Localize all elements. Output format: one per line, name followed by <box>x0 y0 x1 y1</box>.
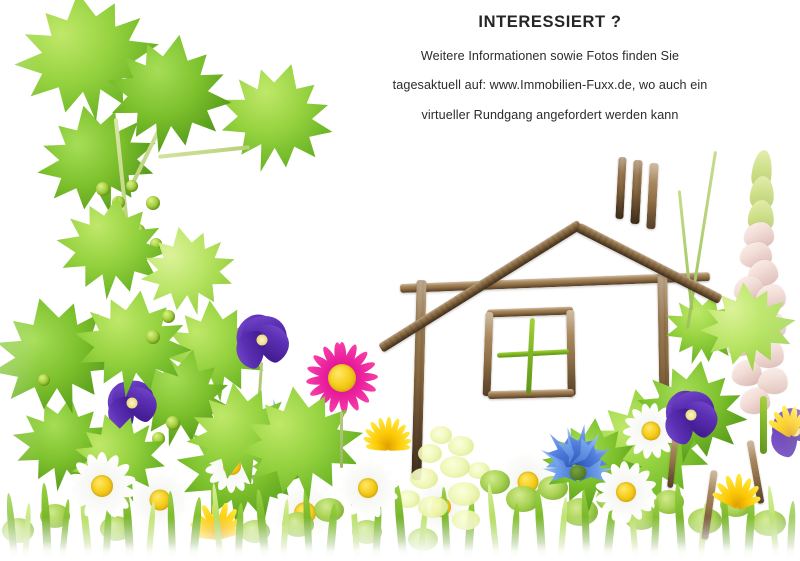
daisy-flower <box>58 442 146 530</box>
advertisement-image: INTERESSIERT ? Weitere Informationen sow… <box>0 0 800 561</box>
dandelion-flower <box>756 404 800 458</box>
daisy-flower <box>586 452 666 532</box>
columbine-flower-right <box>652 382 730 446</box>
info-line-3: virtueller Rundgang angefordert werden k… <box>330 109 770 122</box>
info-line-2-with-website: tagesaktuell auf: www.Immobilien-Fuxx.de… <box>330 79 770 92</box>
lupine-leaf-stem <box>678 190 694 310</box>
info-line-1: Weitere Informationen sowie Fotos finden… <box>330 50 770 63</box>
dandelion-flower <box>352 412 424 472</box>
dandelion-flower <box>700 472 776 530</box>
overlay-text-block: INTERESSIERT ? Weitere Informationen sow… <box>330 14 770 121</box>
page-title: INTERESSIERT ? <box>330 14 770 31</box>
